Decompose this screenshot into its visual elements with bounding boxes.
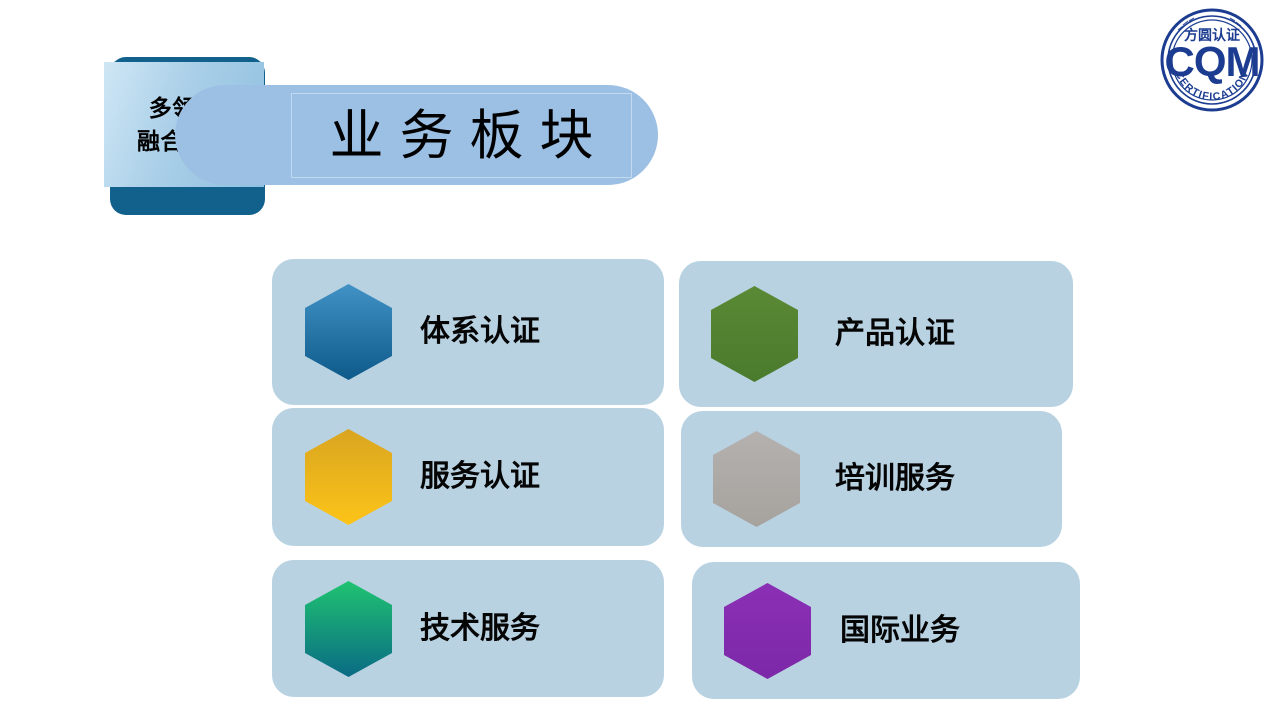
hexagon-icon — [711, 286, 798, 382]
hexagon-icon — [724, 583, 811, 679]
business-card-label: 培训服务 — [835, 464, 955, 494]
business-card-label: 产品认证 — [835, 319, 955, 349]
business-card-label: 国际业务 — [840, 616, 960, 646]
business-card[interactable]: 国际业务 — [692, 562, 1080, 699]
hexagon-icon — [305, 429, 392, 525]
business-card-label: 服务认证 — [420, 462, 540, 492]
business-card[interactable]: 培训服务 — [681, 411, 1062, 547]
business-card-label: 体系认证 — [420, 317, 540, 347]
business-card[interactable]: 体系认证 — [272, 259, 664, 405]
business-card[interactable]: 产品认证 — [679, 261, 1073, 407]
hexagon-icon — [713, 431, 800, 527]
business-card[interactable]: 技术服务 — [272, 560, 664, 697]
business-card-label: 技术服务 — [420, 614, 540, 644]
business-card[interactable]: 服务认证 — [272, 408, 664, 546]
hexagon-icon — [305, 581, 392, 677]
hexagon-icon — [305, 284, 392, 380]
business-sections-grid: 体系认证产品认证服务认证培训服务技术服务国际业务 — [0, 0, 1280, 720]
